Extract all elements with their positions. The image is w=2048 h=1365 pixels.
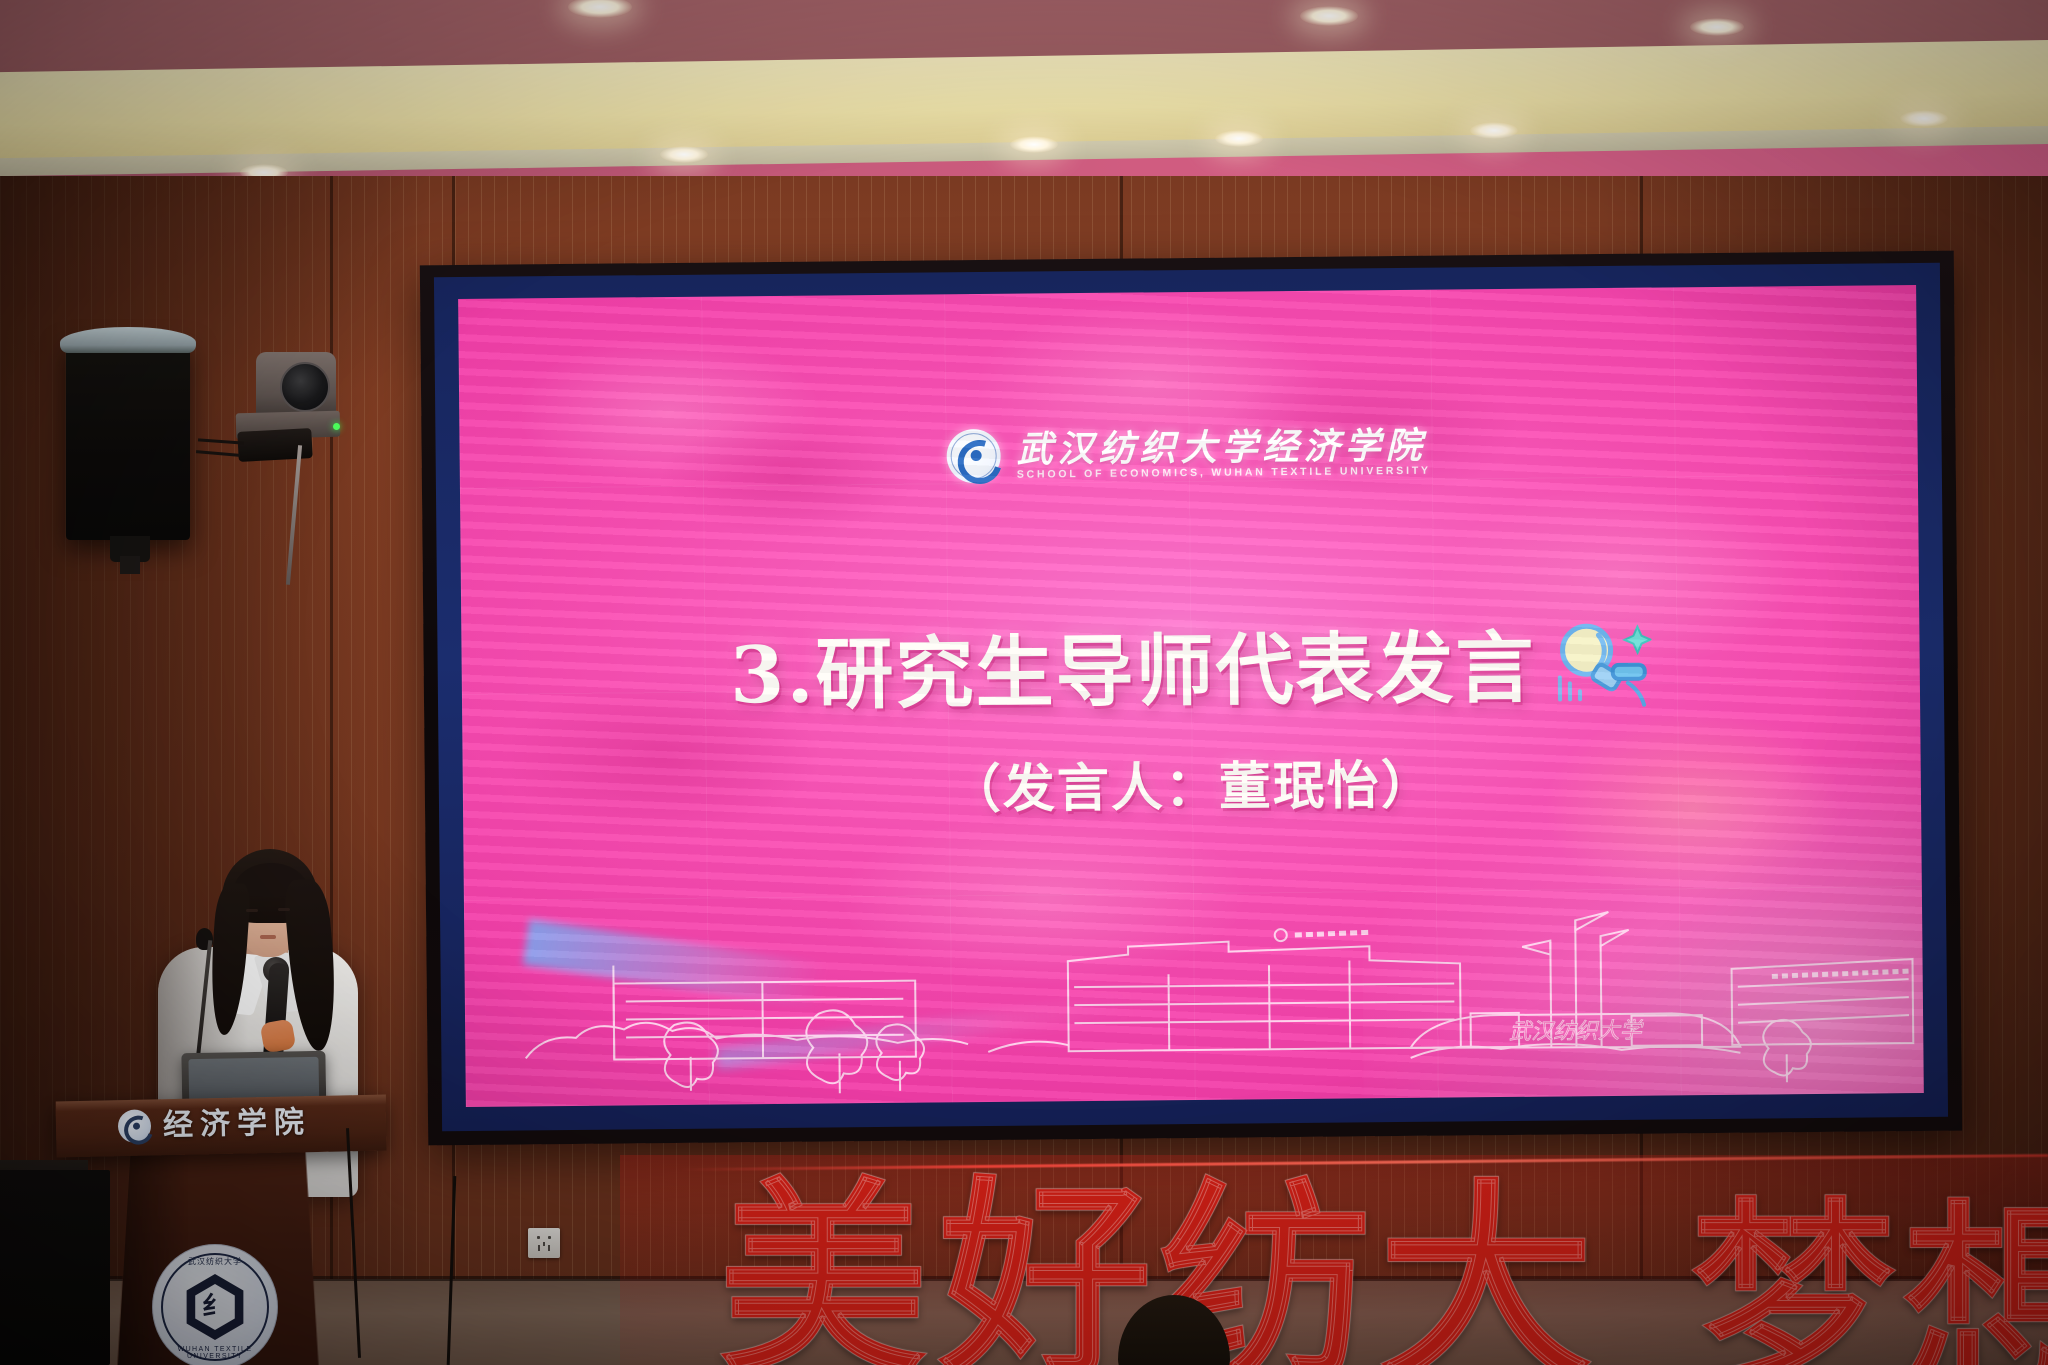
banner-character: 梦 — [1690, 1205, 1896, 1365]
camera-lens-icon — [280, 362, 330, 412]
recessed-downlight — [1300, 6, 1358, 26]
presentation-slide[interactable]: 武汉纺织大学经济学院 SCHOOL OF ECONOMICS, WUHAN TE… — [458, 285, 1924, 1107]
slide-logo-lockup: 武汉纺织大学经济学院 SCHOOL OF ECONOMICS, WUHAN TE… — [946, 425, 1430, 484]
recessed-downlight — [1900, 110, 1948, 127]
led-screen-frame: 武汉纺织大学经济学院 SCHOOL OF ECONOMICS, WUHAN TE… — [420, 251, 1962, 1146]
recessed-downlight — [1215, 130, 1263, 147]
slide-title-row: 3.研究生导师代表发言 — [461, 620, 1920, 724]
red-banner: 美 好 纺 大 梦 想 — [0, 1155, 2048, 1365]
wall-speaker-mount — [120, 556, 140, 574]
school-of-economics-logo-icon — [946, 429, 1001, 484]
led-screen-bezel: 武汉纺织大学经济学院 SCHOOL OF ECONOMICS, WUHAN TE… — [434, 263, 1948, 1131]
camera-status-led — [333, 423, 340, 430]
wall-speaker — [66, 340, 190, 540]
slide-logo-chinese: 武汉纺织大学经济学院 — [1016, 427, 1430, 467]
microphone-icon — [1551, 617, 1652, 714]
podium-label-text: 经济学院 — [163, 1107, 312, 1140]
recessed-downlight — [1010, 136, 1058, 153]
banner-character: 美 — [718, 1184, 928, 1365]
slide-logo-english: SCHOOL OF ECONOMICS, WUHAN TEXTILE UNIVE… — [1017, 465, 1431, 479]
recessed-downlight — [1690, 18, 1744, 36]
lecture-hall-scene: 武汉纺织大学经济学院 SCHOOL OF ECONOMICS, WUHAN TE… — [0, 0, 2048, 1365]
presenter-eye — [278, 908, 290, 911]
presenter-mouth — [260, 935, 276, 939]
banner-character: 想 — [1902, 1207, 2048, 1365]
recessed-downlight — [660, 146, 708, 163]
banner-character: 大 — [1378, 1186, 1594, 1365]
presenter-eye — [246, 909, 258, 912]
recessed-downlight — [1470, 122, 1518, 139]
slide-texture — [519, 336, 820, 489]
slide-title: 3.研究生导师代表发言 — [730, 630, 1536, 716]
podium-nameplate: 经济学院 — [118, 1106, 312, 1143]
school-of-economics-logo-icon — [118, 1109, 152, 1143]
wall-speaker-top — [60, 327, 196, 353]
banner-character: 好 — [938, 1184, 1152, 1365]
campus-sign-text: 武汉纺织大学 — [1509, 1019, 1645, 1045]
slide-texture — [659, 415, 920, 537]
campus-illustration: 武汉纺织大学 — [464, 893, 1924, 1097]
slide-subtitle: （发言人：董珉怡） — [463, 755, 1921, 821]
